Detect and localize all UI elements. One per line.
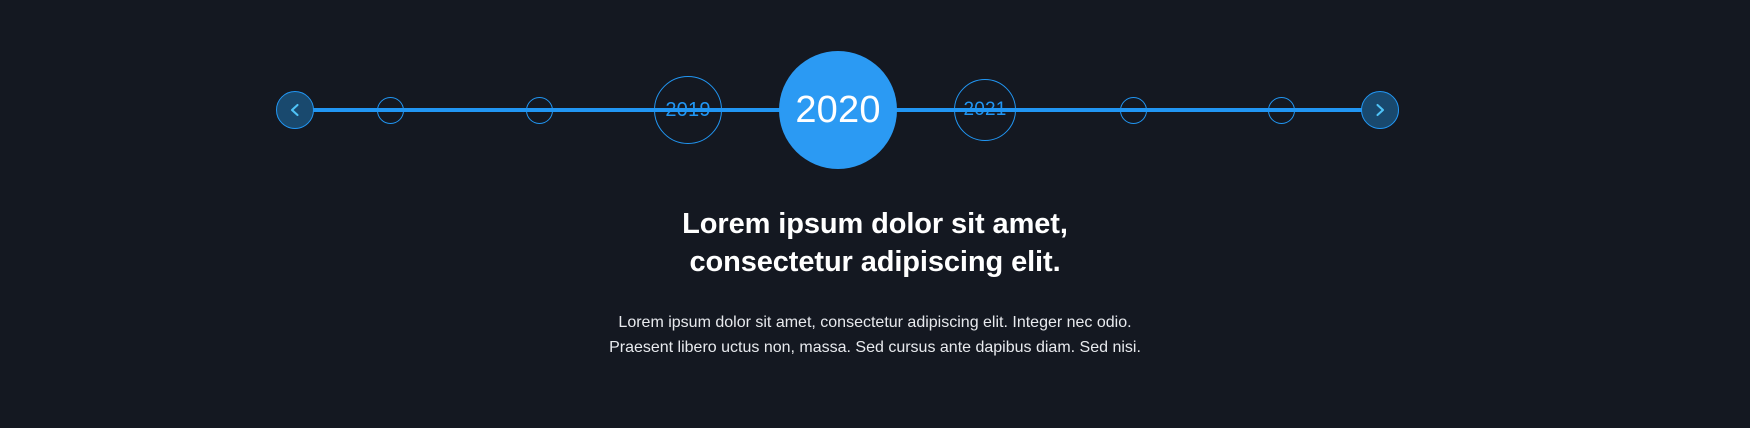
timeline-track-area: 2019 2020 2021 <box>0 0 1750 220</box>
timeline-node-dot-3[interactable] <box>1120 97 1147 124</box>
timeline-node-dot-2[interactable] <box>526 97 553 124</box>
timeline-node-label: 2021 <box>963 99 1006 121</box>
timeline-prev-button[interactable] <box>276 91 314 129</box>
timeline-content-block: Lorem ipsum dolor sit amet, consectetur … <box>0 205 1750 361</box>
timeline-node-label: 2020 <box>795 89 880 132</box>
body-line-1: Lorem ipsum dolor sit amet, consectetur … <box>618 314 1131 331</box>
chevron-right-icon <box>1372 102 1388 118</box>
timeline-node-2019[interactable]: 2019 <box>654 76 722 144</box>
chevron-left-icon <box>287 102 303 118</box>
headline-line-1: Lorem ipsum dolor sit amet, <box>682 208 1068 240</box>
timeline-node-2021[interactable]: 2021 <box>954 79 1016 141</box>
headline-line-2: consectetur adipiscing elit. <box>0 243 1750 281</box>
timeline-node-dot-1[interactable] <box>377 97 404 124</box>
timeline-next-button[interactable] <box>1361 91 1399 129</box>
timeline-node-label: 2019 <box>665 99 710 122</box>
timeline-node-2020-active[interactable]: 2020 <box>779 51 897 169</box>
body-line-2: Praesent libero uctus non, massa. Sed cu… <box>0 335 1750 361</box>
timeline-widget: 2019 2020 2021 Lorem ipsum dolor sit ame… <box>0 0 1750 428</box>
timeline-node-dot-4[interactable] <box>1268 97 1295 124</box>
content-headline: Lorem ipsum dolor sit amet, consectetur … <box>0 205 1750 282</box>
content-body: Lorem ipsum dolor sit amet, consectetur … <box>0 282 1750 362</box>
